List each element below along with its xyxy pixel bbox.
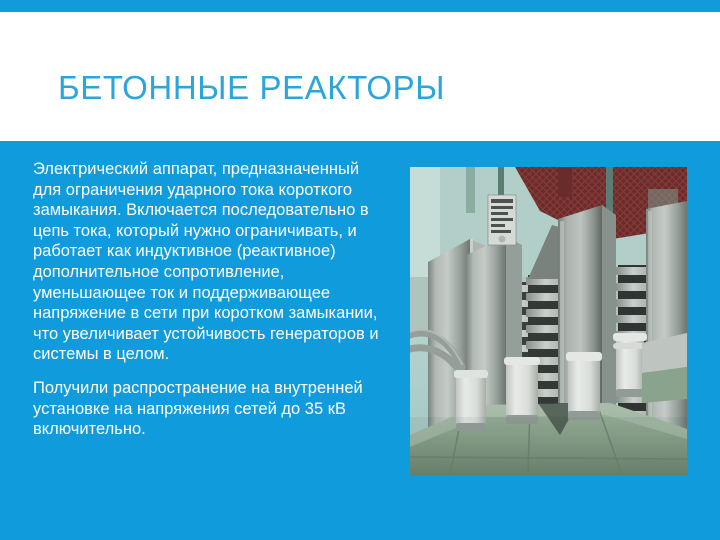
top-accent-bar bbox=[0, 0, 720, 12]
title-band: БЕТОННЫЕ РЕАКТОРЫ bbox=[0, 12, 720, 141]
body-paragraph: Электрический аппарат, предназначенный д… bbox=[33, 159, 385, 365]
page-title: БЕТОННЫЕ РЕАКТОРЫ bbox=[58, 68, 445, 108]
slide: БЕТОННЫЕ РЕАКТОРЫ Электрический аппарат,… bbox=[0, 0, 720, 540]
concrete-reactor-photo bbox=[410, 167, 687, 475]
body-paragraph: Получили распространение на внутренней у… bbox=[33, 378, 385, 440]
body-text-column: Электрический аппарат, предназначенный д… bbox=[33, 159, 385, 440]
